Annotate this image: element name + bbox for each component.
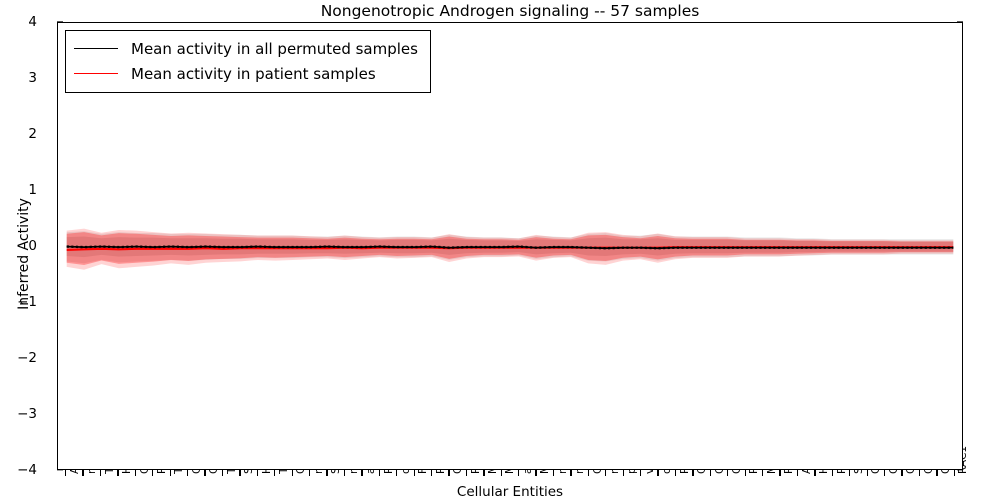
- x-tick-mark: [222, 470, 223, 476]
- x-tick-mark: [361, 470, 362, 476]
- x-tick-mark: [867, 470, 868, 476]
- x-tick-mark: [779, 470, 780, 476]
- x-tick-mark: [292, 470, 293, 476]
- x-tick-mark: [187, 470, 188, 476]
- x-tick-mark: [518, 470, 519, 476]
- x-tick-mark: [239, 470, 240, 476]
- y-tick-label: 2: [0, 126, 37, 142]
- y-tick-label: 3: [0, 70, 37, 86]
- x-tick-mark: [605, 470, 606, 476]
- y-tick-label: −3: [0, 406, 37, 422]
- x-tick-mark: [82, 470, 83, 476]
- x-tick-mark: [483, 470, 484, 476]
- x-tick-mark: [954, 470, 955, 476]
- x-tick-mark: [623, 470, 624, 476]
- x-tick-mark: [535, 470, 536, 476]
- legend-label-permuted: Mean activity in all permuted samples: [131, 40, 418, 58]
- x-tick-mark: [170, 470, 171, 476]
- x-tick-mark: [344, 470, 345, 476]
- x-tick-mark: [309, 470, 310, 476]
- x-tick-mark: [274, 470, 275, 476]
- x-tick-mark: [100, 470, 101, 476]
- legend-swatch-patient: [74, 73, 118, 74]
- x-tick-mark: [692, 470, 693, 476]
- figure: Nongenotropic Androgen signaling -- 57 s…: [0, 0, 1000, 500]
- x-tick-mark: [204, 470, 205, 476]
- x-tick-mark: [745, 470, 746, 476]
- x-tick-mark: [257, 470, 258, 476]
- legend-item: Mean activity in all permuted samples: [74, 36, 418, 61]
- x-tick-mark: [710, 470, 711, 476]
- x-tick-mark: [553, 470, 554, 476]
- x-tick-mark: [588, 470, 589, 476]
- x-tick-mark: [814, 470, 815, 476]
- x-tick-mark: [762, 470, 763, 476]
- x-tick-mark: [570, 470, 571, 476]
- y-axis-label: Inferred Activity: [16, 134, 32, 374]
- y-tick-label: 0: [0, 238, 37, 254]
- x-tick-mark: [466, 470, 467, 476]
- x-tick-mark: [727, 470, 728, 476]
- x-tick-mark: [884, 470, 885, 476]
- x-tick-mark: [501, 470, 502, 476]
- x-tick-mark: [396, 470, 397, 476]
- x-tick-mark: [936, 470, 937, 476]
- x-tick-mark: [849, 470, 850, 476]
- y-tick-label: 4: [0, 14, 37, 30]
- y-tick-label: 1: [0, 182, 37, 198]
- x-tick-mark: [379, 470, 380, 476]
- x-tick-mark: [675, 470, 676, 476]
- legend-item: Mean activity in patient samples: [74, 61, 418, 86]
- y-tick-label: −1: [0, 294, 37, 310]
- x-tick-mark: [117, 470, 118, 476]
- x-axis-label: Cellular Entities: [57, 484, 963, 500]
- y-tick-label: −2: [0, 350, 37, 366]
- x-tick-mark: [919, 470, 920, 476]
- x-tick-mark: [640, 470, 641, 476]
- x-tick-mark: [152, 470, 153, 476]
- x-tick-mark: [832, 470, 833, 476]
- x-tick-mark: [65, 470, 66, 476]
- x-tick-mark: [414, 470, 415, 476]
- x-tick-mark: [797, 470, 798, 476]
- x-tick-mark: [431, 470, 432, 476]
- legend: Mean activity in all permuted samples Me…: [65, 30, 431, 93]
- x-tick-mark: [901, 470, 902, 476]
- legend-label-patient: Mean activity in patient samples: [131, 65, 376, 83]
- chart-title: Nongenotropic Androgen signaling -- 57 s…: [57, 2, 963, 20]
- x-tick-mark: [657, 470, 658, 476]
- legend-swatch-permuted: [74, 48, 118, 49]
- y-tick-label: −4: [0, 462, 37, 478]
- x-tick-mark: [135, 470, 136, 476]
- x-tick-mark: [448, 470, 449, 476]
- x-tick-mark: [326, 470, 327, 476]
